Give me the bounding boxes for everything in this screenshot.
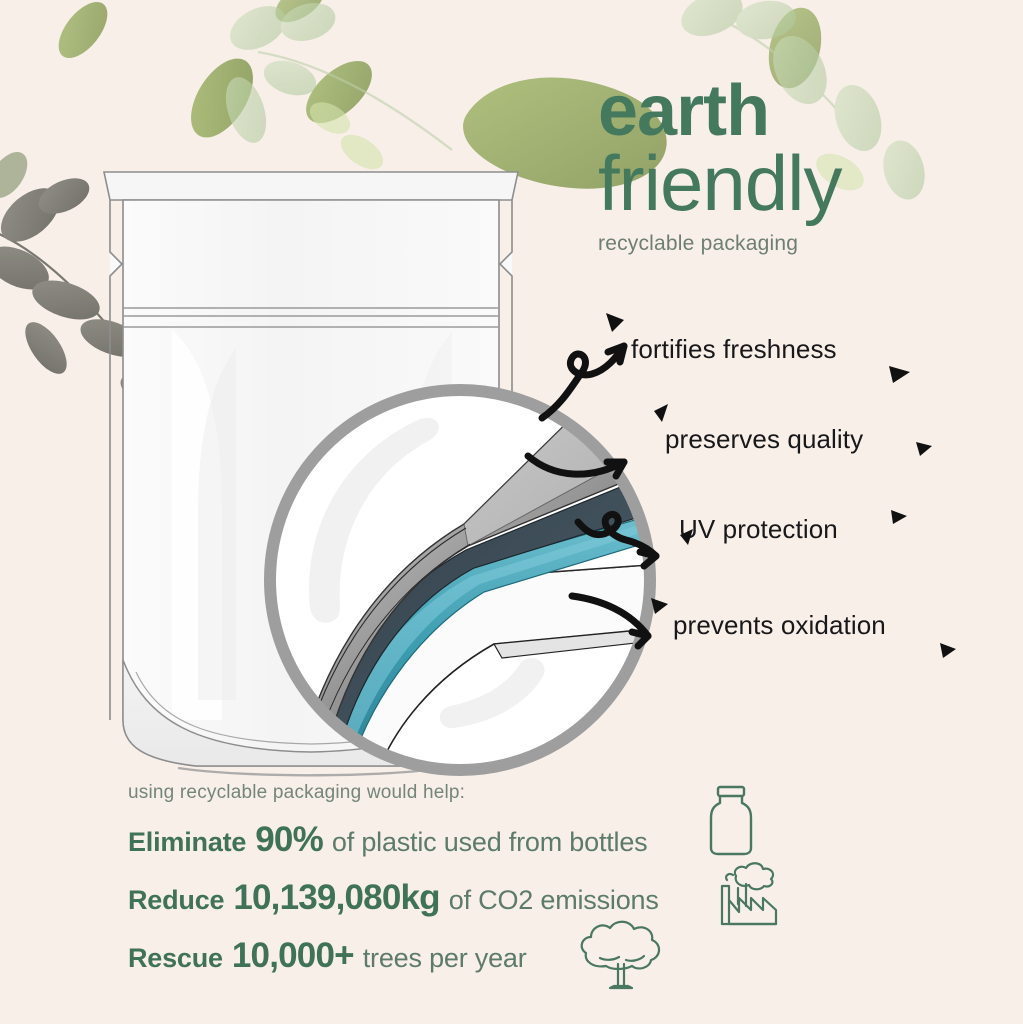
feature-label-uv-protection: UV protection <box>679 514 838 545</box>
stat-tail: trees per year <box>363 943 527 974</box>
spark-icon <box>891 510 907 524</box>
feature-label-preserves-quality: preserves quality <box>665 424 863 455</box>
headline-subtitle: recyclable packaging <box>598 232 998 256</box>
stat-label: Rescue <box>128 943 223 974</box>
stat-value: 90% <box>255 820 323 860</box>
stats-intro-text: using recyclable packaging would help: <box>128 782 748 804</box>
stat-tail: of plastic used from bottles <box>332 827 648 858</box>
stat-row-reduce: Reduce 10,139,080kg of CO2 emissions <box>128 878 748 918</box>
headline-block: earth friendly recyclable packaging <box>598 78 998 256</box>
factory-icon <box>718 860 780 928</box>
spark-icon <box>606 313 624 332</box>
spark-icon <box>889 366 910 383</box>
spark-icon <box>940 643 956 658</box>
tree-icon <box>576 918 666 996</box>
infographic-canvas: earth friendly recyclable packaging fort… <box>0 0 1023 1024</box>
bottle-icon <box>705 784 757 856</box>
leaf-sprig-sage-top <box>218 0 452 176</box>
stat-label: Eliminate <box>128 827 246 858</box>
feature-label-fortifies-freshness: fortifies freshness <box>631 334 837 365</box>
stat-tail: of CO2 emissions <box>449 885 659 916</box>
stat-row-eliminate: Eliminate 90% of plastic used from bottl… <box>128 820 748 860</box>
stat-value: 10,000+ <box>232 936 354 976</box>
feature-label-prevents-oxidation: prevents oxidation <box>673 610 886 641</box>
magnifier-cutaway-circle <box>258 378 662 782</box>
headline-line-2: friendly <box>598 146 998 220</box>
headline-line-1: earth <box>598 78 998 144</box>
spark-icon <box>916 442 932 456</box>
stat-label: Reduce <box>128 885 224 916</box>
stat-value: 10,139,080kg <box>233 878 439 918</box>
